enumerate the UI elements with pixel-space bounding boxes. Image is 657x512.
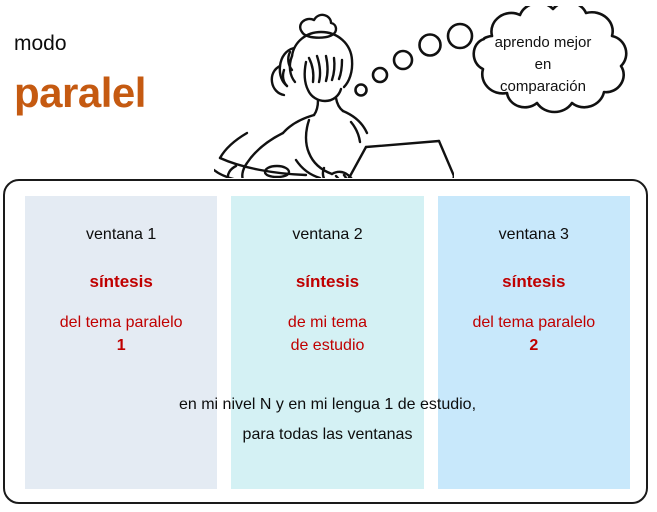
window-1-description-line-2: 1 <box>25 334 217 357</box>
mode-label: modo <box>14 32 67 56</box>
window-column-2[interactable]: ventana 2 síntesis de mi tema de estudio <box>231 196 423 489</box>
thought-bubble-line-2: en <box>456 54 630 76</box>
header: modo paralel <box>0 0 657 178</box>
window-2-synthesis-label: síntesis <box>231 271 423 292</box>
window-2-description-line-1: de mi tema <box>231 311 423 334</box>
window-3-description: del tema paralelo 2 <box>438 311 630 357</box>
thought-bubble: aprendo mejor en comparación <box>352 6 657 146</box>
window-1-title: ventana 1 <box>25 225 217 245</box>
window-3-description-line-1: del tema paralelo <box>438 311 630 334</box>
mode-name-title: paralel <box>14 68 146 118</box>
thought-dot-3 <box>394 51 412 69</box>
thought-bubble-line-1: aprendo mejor <box>456 32 630 54</box>
window-3-title: ventana 3 <box>438 225 630 245</box>
thought-dot-1 <box>356 85 367 96</box>
window-column-1[interactable]: ventana 1 síntesis del tema paralelo 1 <box>25 196 217 489</box>
windows-columns: ventana 1 síntesis del tema paralelo 1 v… <box>25 196 630 489</box>
window-3-description-line-2: 2 <box>438 334 630 357</box>
window-1-synthesis-label: síntesis <box>25 271 217 292</box>
window-1-description-line-1: del tema paralelo <box>25 311 217 334</box>
window-column-3[interactable]: ventana 3 síntesis del tema paralelo 2 <box>438 196 630 489</box>
window-2-title: ventana 2 <box>231 225 423 245</box>
thought-bubble-text: aprendo mejor en comparación <box>456 32 630 98</box>
window-3-synthesis-label: síntesis <box>438 271 630 292</box>
windows-panel: ventana 1 síntesis del tema paralelo 1 v… <box>3 179 648 504</box>
window-2-description: de mi tema de estudio <box>231 311 423 357</box>
thought-dot-4 <box>420 35 441 56</box>
window-1-description: del tema paralelo 1 <box>25 311 217 357</box>
thought-dot-2 <box>373 68 387 82</box>
thought-bubble-line-3: comparación <box>456 76 630 98</box>
window-2-description-line-2: de estudio <box>231 334 423 357</box>
